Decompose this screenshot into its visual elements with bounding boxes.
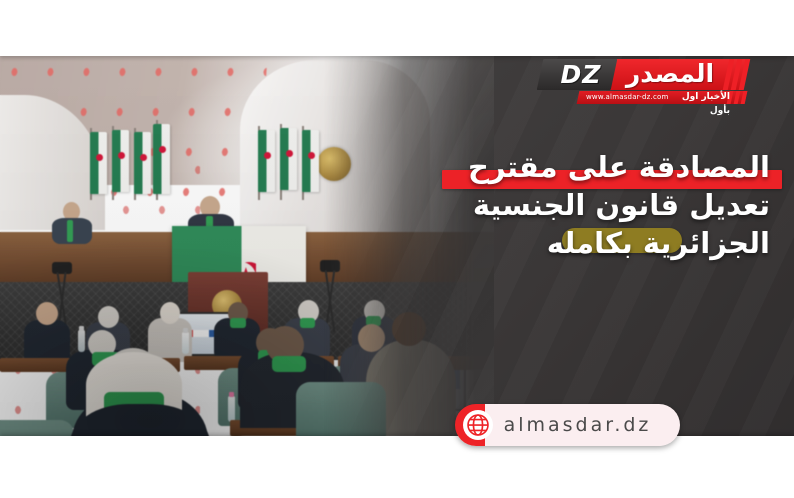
green-sash: [230, 318, 246, 328]
green-sash: [67, 220, 73, 242]
attendee-head: [160, 302, 180, 324]
algerian-flag: [302, 130, 319, 192]
water-bottle: [182, 332, 189, 354]
logo-url-text: www.almasdar-dz.com: [586, 91, 670, 104]
globe-icon: [463, 410, 493, 440]
torn-paper-bottom-edge: [0, 436, 794, 498]
water-bottle: [228, 396, 235, 422]
water-bottle: [78, 330, 85, 352]
headline-line-3: الجزائرية بكامله: [386, 224, 770, 262]
attendee-head: [36, 302, 58, 325]
green-sash: [272, 356, 306, 372]
algerian-flag: [258, 130, 275, 192]
site-url-text: almasdar.dz: [493, 414, 680, 436]
headline-line-1: المصادقة على مقترح: [386, 148, 770, 186]
logo-dz-text: DZ: [550, 60, 612, 90]
site-url-badge[interactable]: almasdar.dz: [455, 404, 680, 446]
algerian-flag-center: [153, 124, 170, 194]
algerian-flag: [112, 130, 129, 192]
algerian-flag: [134, 132, 151, 194]
camera-head: [52, 262, 72, 274]
headline-line-2: تعديل قانون الجنسية: [386, 186, 770, 224]
logo-arabic-name: المصدر: [616, 58, 724, 90]
attendee-head: [98, 306, 119, 328]
torn-paper-top-edge: [0, 0, 794, 56]
news-card: ★: [0, 0, 794, 498]
algerian-flag: [90, 132, 107, 194]
logo-motto-text: الأخبار اول بأول: [668, 90, 730, 104]
green-sash: [300, 318, 315, 328]
headline-block: المصادقة على مقترح تعديل قانون الجنسية ا…: [386, 148, 770, 262]
algerian-flag: [280, 128, 297, 190]
site-logo[interactable]: DZ المصدر www.almasdar-dz.com الأخبار او…: [540, 59, 746, 107]
